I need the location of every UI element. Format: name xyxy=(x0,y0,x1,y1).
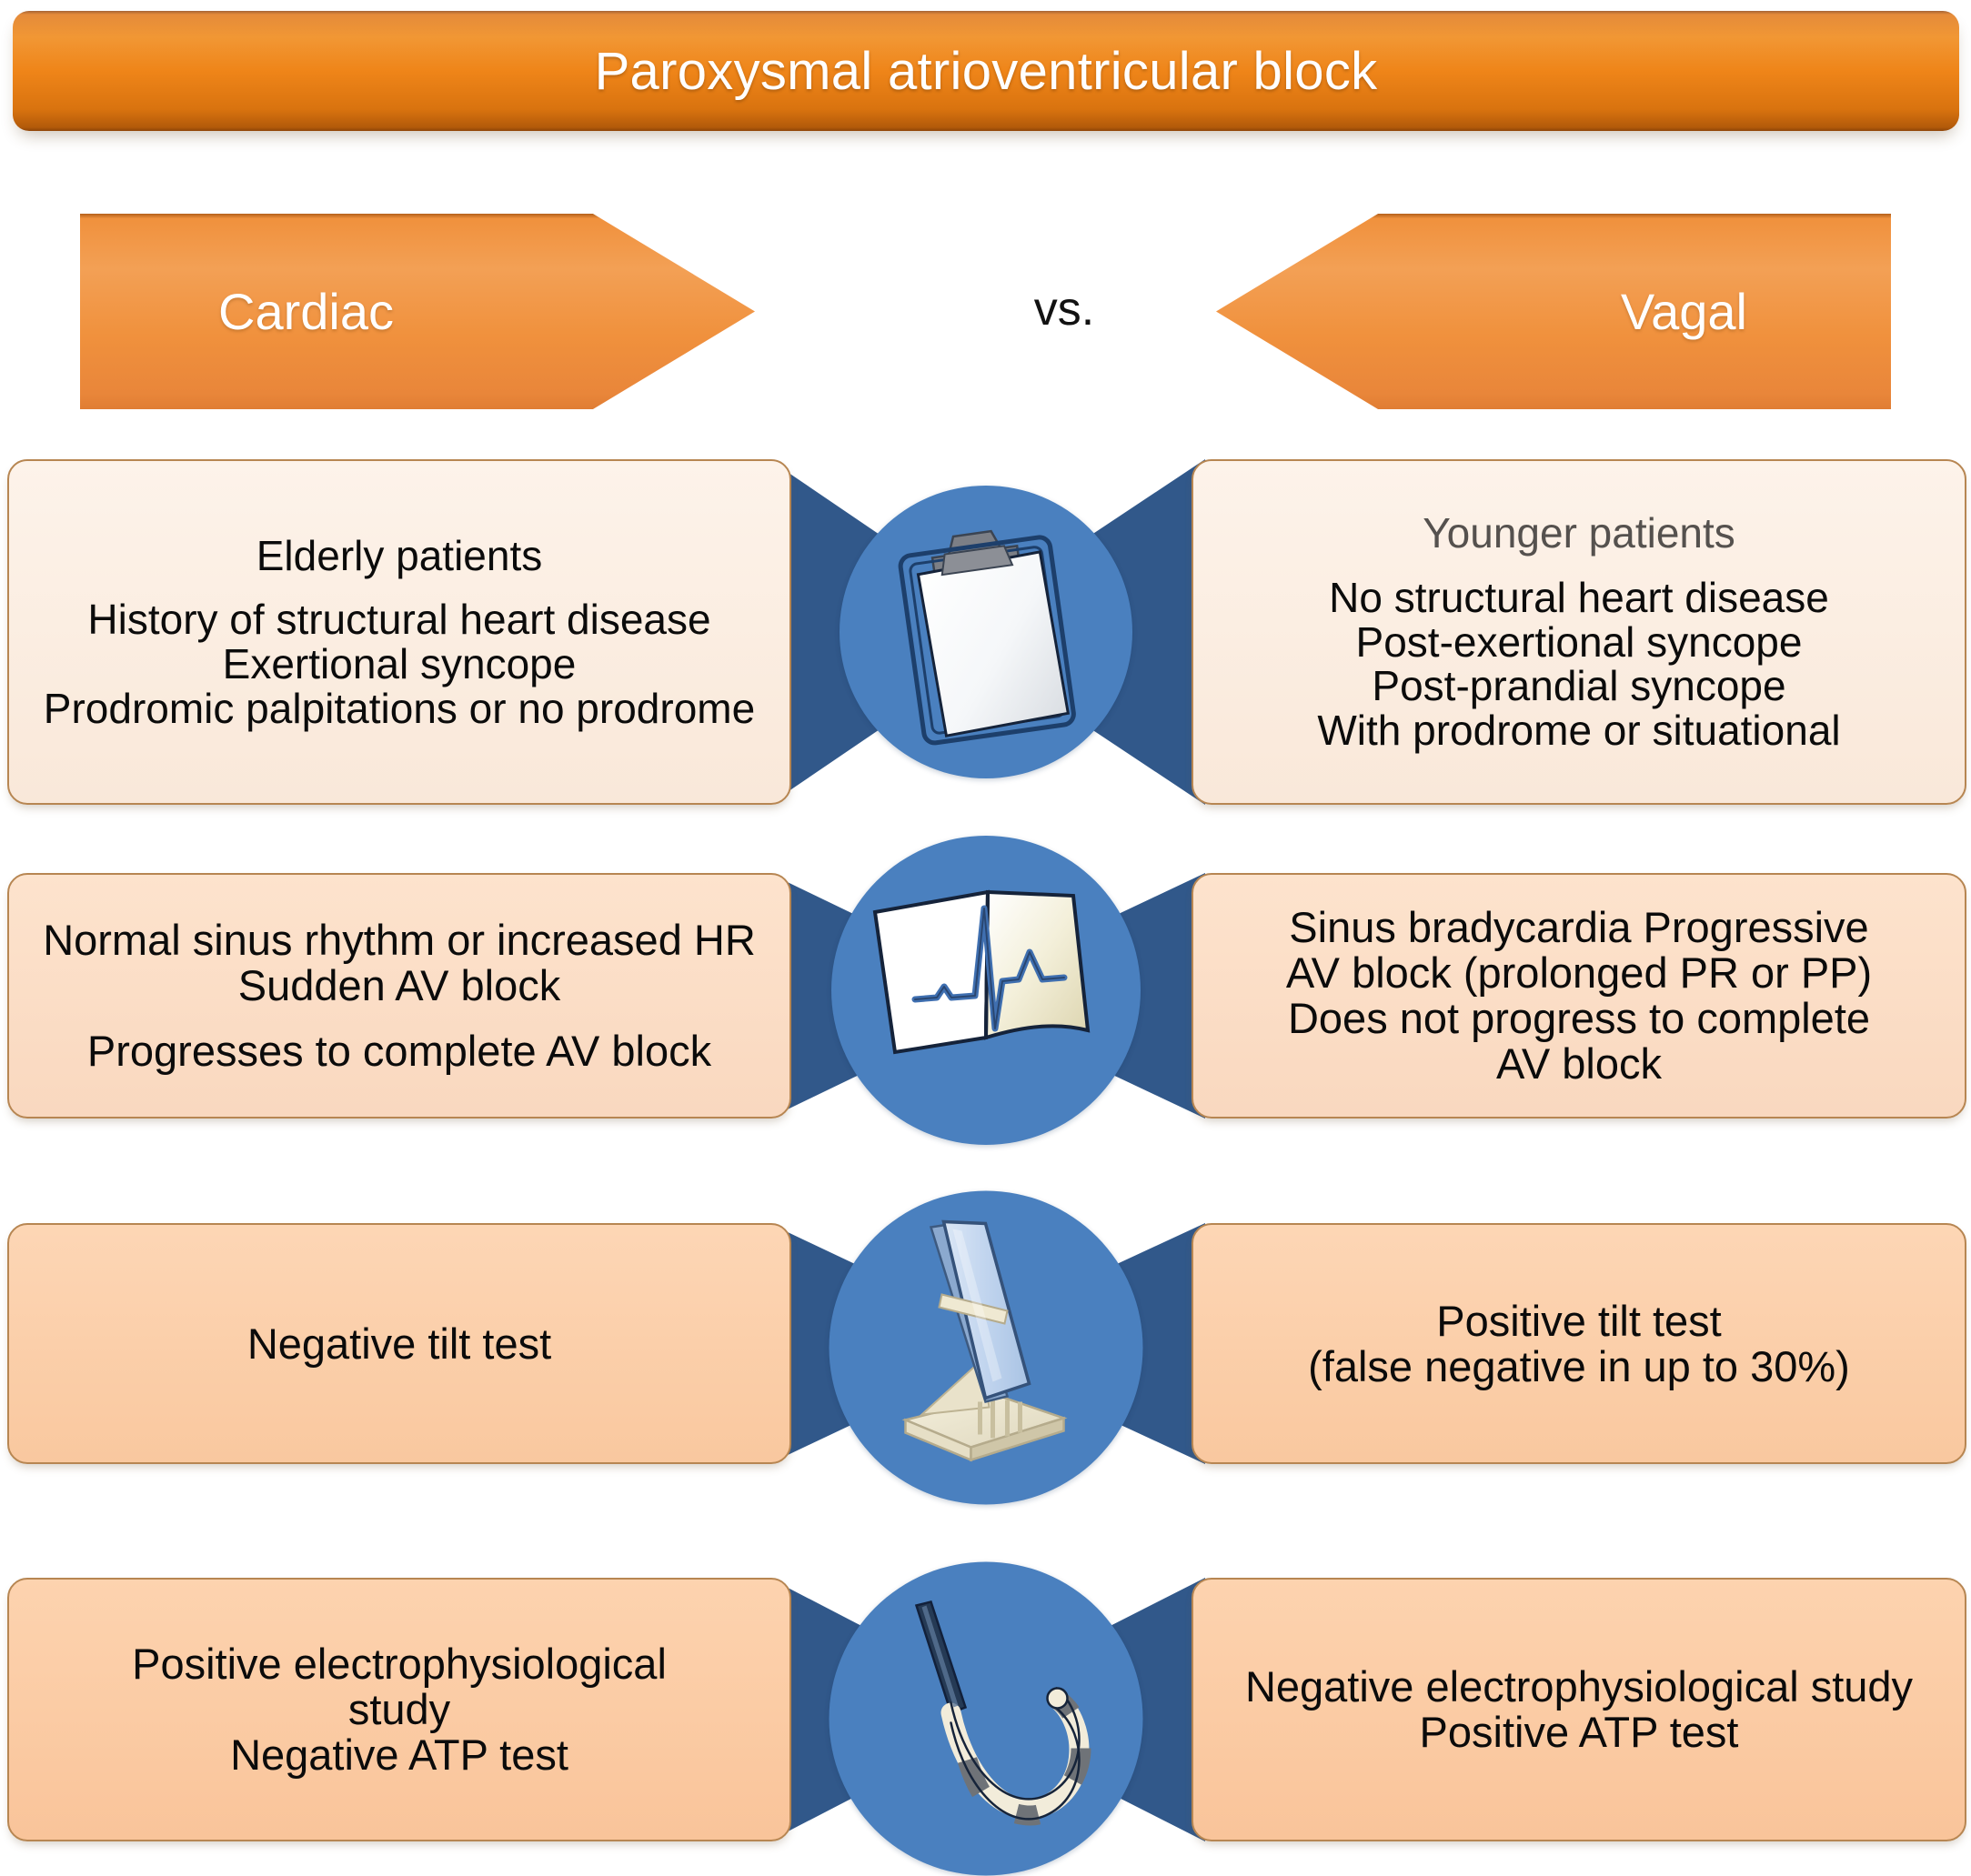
ecg-strip-icon xyxy=(831,836,1141,1145)
cardiac-arrow-banner: Cardiac xyxy=(80,214,755,409)
list-item: Prodromic palpitations or no prodrome xyxy=(44,687,755,731)
versus-label: vs. xyxy=(946,282,1182,336)
vagal-history-box: Younger patients No structural heart dis… xyxy=(1192,459,1966,805)
cardiac-tilt-box: Negative tilt test xyxy=(7,1223,791,1464)
vagal-ecg-box: Sinus bradycardia Progressive AV block (… xyxy=(1192,873,1966,1119)
cardiac-arrow-label: Cardiac xyxy=(218,282,394,341)
comparison-row-ecg: Normal sinus rhythm or increased HR Sudd… xyxy=(0,873,1971,1119)
clipboard-icon xyxy=(840,486,1132,778)
list-item: Elderly patients xyxy=(256,534,543,578)
list-item: With prodrome or situational xyxy=(1317,708,1840,753)
diagram-title-banner: Paroxysmal atrioventricular block xyxy=(13,11,1959,131)
list-item: History of structural heart disease xyxy=(87,597,710,642)
list-item: Negative tilt test xyxy=(247,1321,551,1367)
list-item: study xyxy=(348,1687,450,1732)
cardiac-history-box: Elderly patients History of structural h… xyxy=(7,459,791,805)
comparison-row-tilt-test: Negative tilt test Positive tilt test (f… xyxy=(0,1223,1971,1464)
list-item: Negative ATP test xyxy=(230,1732,568,1778)
list-item: AV block (prolonged PR or PP) xyxy=(1286,950,1872,996)
vagal-arrow-label: Vagal xyxy=(1621,282,1747,341)
catheter-icon xyxy=(829,1562,1142,1876)
cardiac-ecg-box: Normal sinus rhythm or increased HR Sudd… xyxy=(7,873,791,1119)
page-title: Paroxysmal atrioventricular block xyxy=(595,41,1378,102)
list-item: Younger patients xyxy=(1423,511,1735,556)
list-item: Sinus bradycardia Progressive xyxy=(1289,905,1868,950)
list-item: Post-prandial syncope xyxy=(1372,664,1785,708)
list-item: Normal sinus rhythm or increased HR xyxy=(43,918,756,963)
cardiac-ep-box: Positive electrophysiological study Nega… xyxy=(7,1578,791,1841)
list-item: Positive ATP test xyxy=(1420,1710,1739,1755)
list-item: Post-exertional syncope xyxy=(1356,620,1803,665)
list-item: Sudden AV block xyxy=(238,963,561,1008)
list-item: Positive electrophysiological xyxy=(132,1641,667,1687)
list-item: Progresses to complete AV block xyxy=(87,1028,711,1074)
list-item: No structural heart disease xyxy=(1329,576,1829,620)
list-item: Exertional syncope xyxy=(223,642,577,687)
list-item: Does not progress to complete xyxy=(1288,996,1870,1041)
vagal-tilt-box: Positive tilt test (false negative in up… xyxy=(1192,1223,1966,1464)
list-item: Negative electrophysiological study xyxy=(1245,1664,1913,1710)
vagal-ep-box: Negative electrophysiological study Posi… xyxy=(1192,1578,1966,1841)
comparison-row-ep-study: Positive electrophysiological study Nega… xyxy=(0,1578,1971,1841)
list-item: (false negative in up to 30%) xyxy=(1308,1344,1850,1389)
comparison-row-clinical-history: Elderly patients History of structural h… xyxy=(0,459,1971,805)
list-item: Positive tilt test xyxy=(1436,1299,1721,1344)
vagal-arrow-banner: Vagal xyxy=(1216,214,1891,409)
list-item: AV block xyxy=(1496,1041,1662,1087)
tilt-table-icon xyxy=(829,1190,1142,1504)
